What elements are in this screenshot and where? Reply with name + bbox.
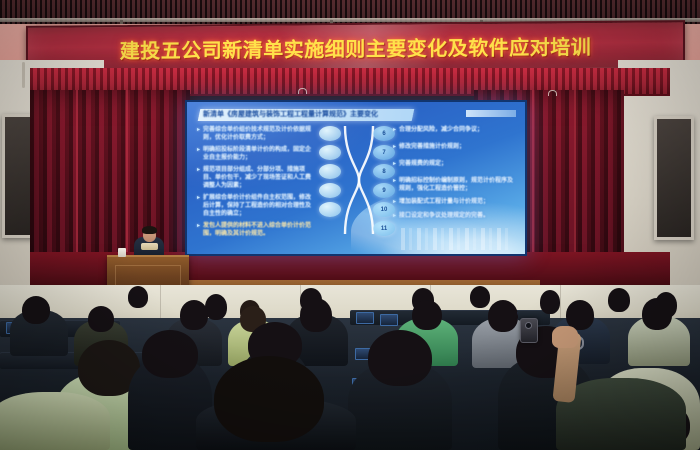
slide-marker-number: 8: [373, 164, 395, 179]
slide-marker: [319, 202, 341, 217]
attendee-head-foreground: [214, 356, 324, 442]
slide-bullet: ▸接口设定和争议处理规定的完善。: [393, 212, 517, 220]
wall-conduit: [22, 62, 25, 88]
attendee-head: [488, 300, 518, 332]
attendee-head: [540, 290, 560, 314]
slide-marker-number: 10: [373, 202, 395, 217]
presenter-collar: [141, 243, 158, 250]
camera-lens-icon: [525, 322, 532, 329]
chevron-right-icon: ▸: [197, 166, 200, 190]
chevron-right-icon: ▸: [393, 126, 396, 134]
slide-bullet-text: 发包人提供的材料不进入综合单价计价范围，明确及其计价规范。: [203, 222, 315, 238]
slide-skyline-decoration: [401, 228, 511, 250]
slide-bullet: ▸合理分配风险，减少合同争议；: [393, 126, 517, 134]
attendee-head: [180, 300, 208, 330]
slide-content: 新清单《房屋建筑与装饰工程工程量计算规范》主要变化 ▸完善综合单价组价技术规范及…: [187, 102, 525, 254]
event-banner: 建投五公司新清单实施细则主要变化及软件应对培训: [26, 20, 685, 75]
attendee-head: [142, 330, 198, 378]
slide-bullet: ▸规范项目部分组成、分部分项、措施项目、单价包干，减少了现场签证和人工费调整人为…: [197, 166, 315, 190]
slide-bullet: ▸增加装配式工程计量与计价规范；: [393, 198, 517, 206]
slide-marker-number: 9: [373, 183, 395, 198]
slide-bullet: ▸明确招投标阶段清单计价的构成，固定企业自主报价能力；: [197, 146, 315, 162]
slide-bullet-text: 完善规费的规定；: [399, 160, 447, 168]
slide-bullet: ▸完善综合单价组价技术规范及计价依据规则，优化计价取费方式；: [197, 126, 315, 142]
laptop: [356, 312, 374, 324]
chevron-right-icon: ▸: [197, 126, 200, 142]
curtain-hook: [298, 88, 307, 94]
chevron-right-icon: ▸: [393, 160, 396, 168]
slide-marker: [319, 164, 341, 179]
chevron-right-icon: ▸: [393, 143, 396, 151]
projection-screen: 新清单《房屋建筑与装饰工程工程量计算规范》主要变化 ▸完善综合单价组价技术规范及…: [185, 100, 527, 256]
slide-bullet-text: 规范项目部分组成、分部分项、措施项目、单价包干，减少了现场签证和人工费调整人为因…: [203, 166, 315, 190]
slide-marker-number: 11: [373, 221, 395, 236]
attendee-head: [88, 306, 114, 332]
slide-marker: [319, 126, 341, 141]
smartphone[interactable]: [520, 318, 538, 343]
slide-bullet: ▸修改完善措施计价规则；: [393, 143, 517, 151]
slide-bullet-text: 增加装配式工程计量与计价规范；: [399, 198, 489, 206]
attendee-head: [412, 300, 442, 330]
slide-bullet-text: 明确招标控制价编制原则，规范计价程序及规则，强化工程造价管控；: [399, 177, 517, 193]
slide-title: 新清单《房屋建筑与装饰工程工程量计算规范》主要变化: [203, 109, 411, 121]
photographer-hand: [552, 326, 578, 348]
attendee-head: [205, 294, 227, 320]
attendee-body: [0, 392, 110, 450]
slide-left-column: ▸完善综合单价组价技术规范及计价依据规则，优化计价取费方式； ▸明确招投标阶段清…: [197, 126, 315, 242]
slide-marker: [319, 183, 341, 198]
chevron-right-icon: ▸: [197, 222, 200, 238]
attendee-head: [608, 288, 630, 312]
slide-bullet: ▸完善规费的规定；: [393, 160, 517, 168]
attendee-head: [128, 286, 148, 308]
attendee-head: [22, 296, 50, 324]
attendee-head: [642, 298, 672, 330]
chevron-right-icon: ▸: [393, 177, 396, 193]
curtain-hook: [548, 90, 557, 96]
attendee-head: [470, 286, 490, 308]
chevron-right-icon: ▸: [197, 194, 200, 218]
slide-bullet-text: 修改完善措施计价规则；: [399, 143, 465, 151]
chevron-right-icon: ▸: [197, 146, 200, 162]
slide-marker: [319, 145, 341, 160]
slide-marker-number: 6: [373, 126, 395, 141]
slide-bullet-text: 接口设定和争议处理规定的完善。: [399, 212, 489, 220]
chevron-right-icon: ▸: [393, 198, 396, 206]
banner-title: 建投五公司新清单实施细则主要变化及软件应对培训: [120, 31, 592, 64]
attendee-head: [300, 298, 332, 332]
slide-bullet: ▸扩展综合单价计价组件自主权范围，修改后计算，保持了工程造价的相对合理性及自主性…: [197, 194, 315, 218]
slide-bullet-text: 合理分配风险，减少合同争议；: [399, 126, 483, 134]
wall-speaker-right: [654, 116, 694, 240]
presenter-hair: [142, 226, 157, 234]
attendee-head: [368, 330, 432, 386]
water-cup: [118, 248, 126, 257]
slide-marker-number: 7: [373, 145, 395, 160]
laptop: [380, 314, 398, 326]
slide-bullet: ▸发包人提供的材料不进入综合单价计价范围，明确及其计价规范。: [197, 222, 315, 238]
slide-bullet-text: 完善综合单价组价技术规范及计价依据规则，优化计价取费方式；: [203, 126, 315, 142]
conference-hall-photo: 建投五公司新清单实施细则主要变化及软件应对培训 新清单《房屋建筑与装饰工程工程量…: [0, 0, 700, 450]
slide-bullet-text: 明确招投标阶段清单计价的构成，固定企业自主报价能力；: [203, 146, 315, 162]
slide-bullet-text: 扩展综合单价计价组件自主权范围，修改后计算，保持了工程造价的相对合理性及自主性的…: [203, 194, 315, 218]
slide-watermark: [466, 110, 516, 117]
slide-right-column: ▸合理分配风险，减少合同争议； ▸修改完善措施计价规则； ▸完善规费的规定； ▸…: [393, 126, 517, 224]
slide-bullet: ▸明确招标控制价编制原则，规范计价程序及规则，强化工程造价管控；: [393, 177, 517, 193]
chevron-right-icon: ▸: [393, 212, 396, 220]
